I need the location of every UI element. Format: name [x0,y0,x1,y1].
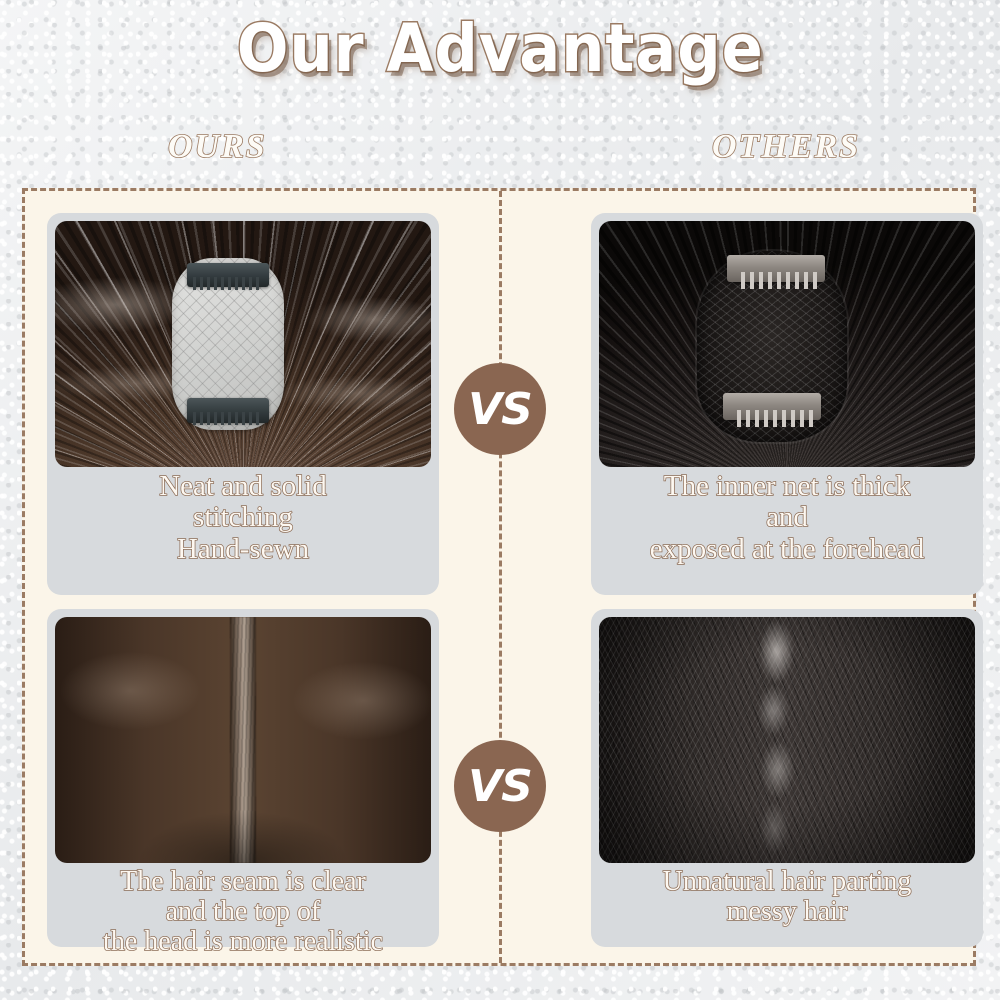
photo-ours-lace-base [55,221,431,467]
photo-ours-clean-parting [55,617,431,863]
caption-others-net: The inner net is thick and exposed at th… [597,471,977,565]
comparison-panel: Neat and solid stitching Hand-sewn The i… [22,188,976,966]
metal-clip-bottom [723,393,821,420]
vs-badge-row1: VS [454,363,546,455]
caption-ours-stitching: Neat and solid stitching Hand-sewn [53,471,433,565]
snap-clip-bottom [187,398,270,423]
hair-highlight-sheen [55,617,431,863]
photo-others-thick-net [599,221,975,467]
photo-vignette [599,617,975,863]
metal-clip-top [727,255,825,282]
card-others-parting: Unnatural hair parting messy hair [591,609,983,947]
card-others-net: The inner net is thick and exposed at th… [591,213,983,595]
vs-badge-row2: VS [454,740,546,832]
page-title: Our Advantage [237,16,764,82]
snap-clip-top [187,263,270,288]
photo-others-messy-parting [599,617,975,863]
column-header-others: OTHERS [712,128,860,166]
card-ours-parting: The hair seam is clear and the top of th… [47,609,439,947]
column-header-ours: OURS [168,128,267,166]
title-banner: Our Advantage [0,16,1000,82]
column-divider [499,191,502,963]
card-ours-stitching: Neat and solid stitching Hand-sewn [47,213,439,595]
caption-others-parting: Unnatural hair parting messy hair [597,867,977,927]
caption-ours-parting: The hair seam is clear and the top of th… [53,867,433,958]
